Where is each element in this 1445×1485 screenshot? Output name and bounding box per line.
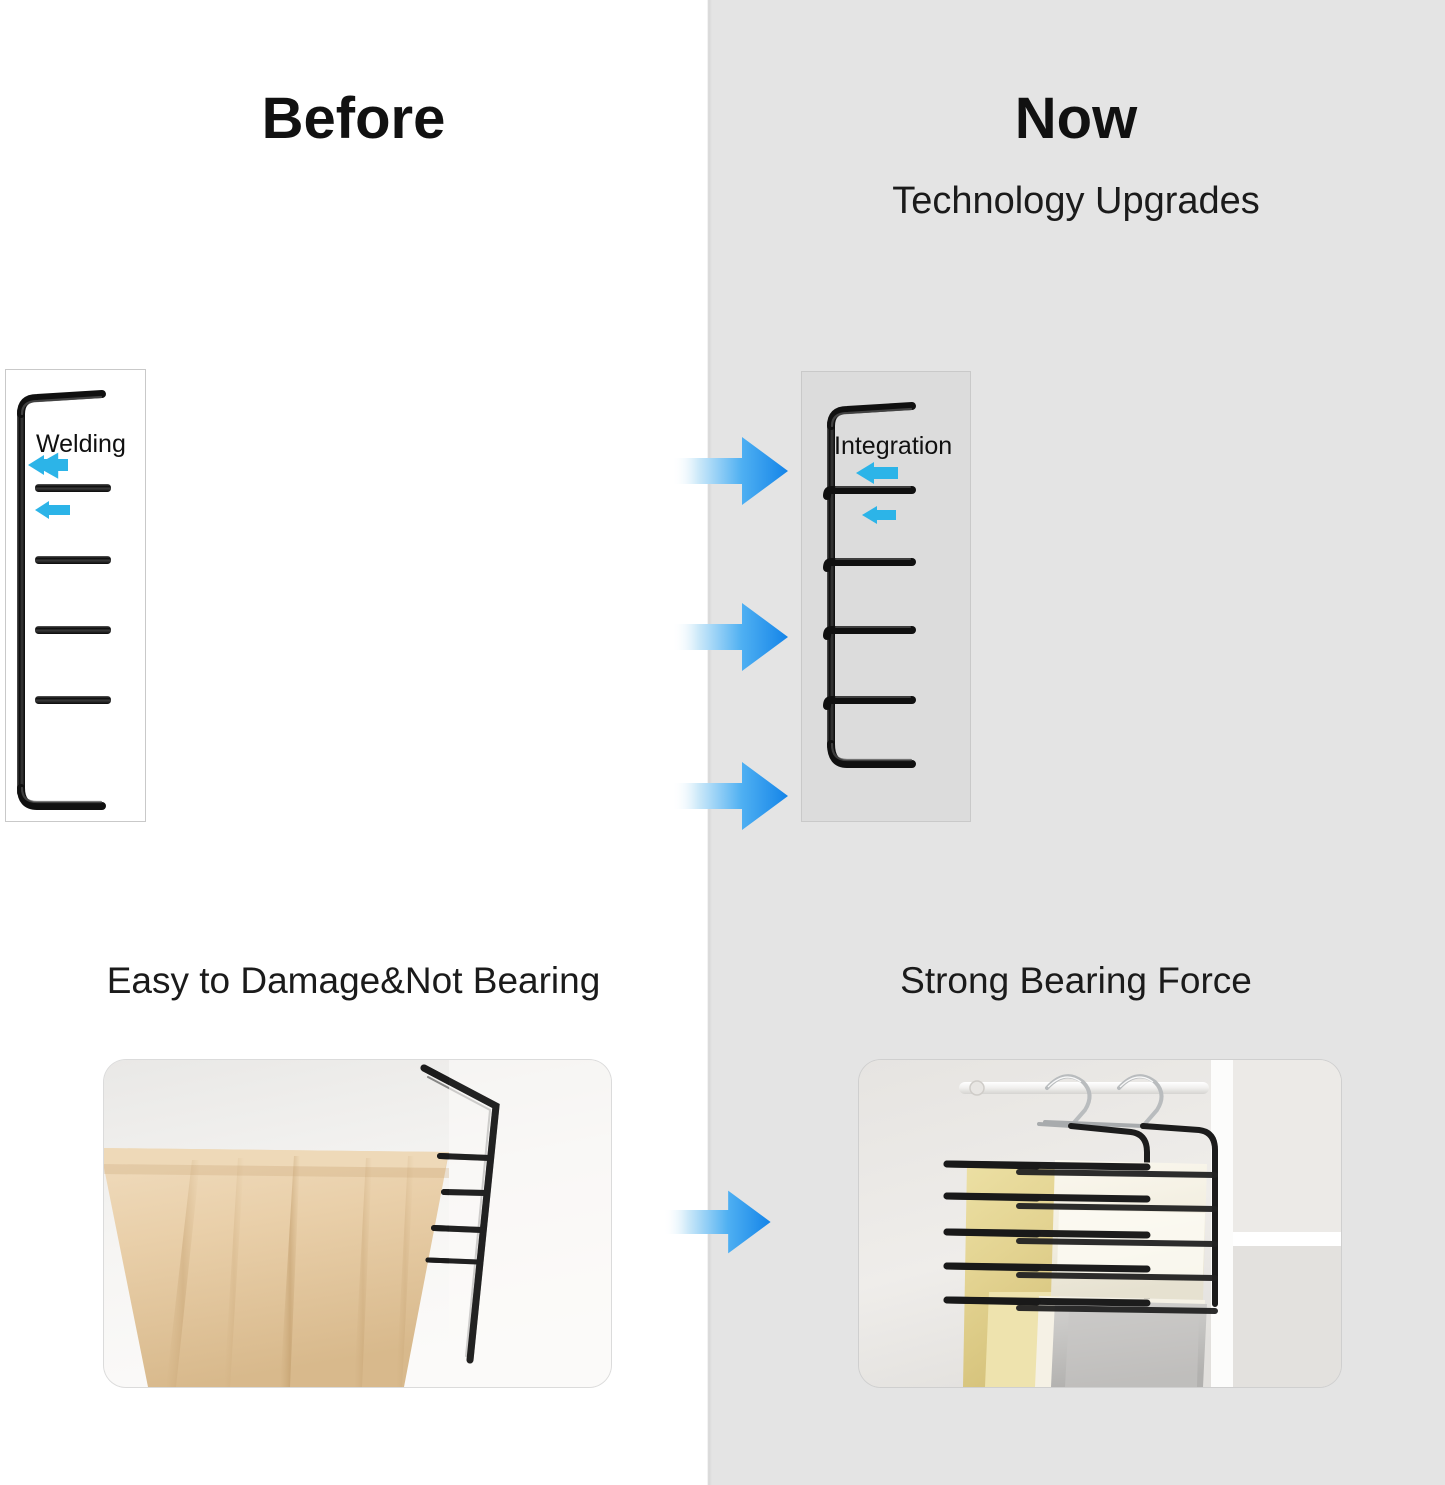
infographic-root: Before Now Technology Upgrades — [0, 0, 1445, 1485]
now-title: Now — [707, 85, 1445, 152]
transition-arrow-icon — [672, 432, 790, 510]
caption-before: Easy to Damage&Not Bearing — [0, 960, 707, 1002]
transition-arrow-icon — [672, 598, 790, 676]
caption-now: Strong Bearing Force — [707, 960, 1445, 1002]
loaded-hanger-photo — [859, 1060, 1341, 1387]
welding-label: Welding — [36, 430, 126, 459]
now-subtitle: Technology Upgrades — [707, 180, 1445, 223]
before-title: Before — [0, 85, 707, 152]
damaged-hanger-photo — [104, 1060, 611, 1387]
transition-arrow-icon — [663, 1186, 773, 1258]
transition-arrow-icon — [672, 757, 790, 835]
integration-label: Integration — [834, 432, 952, 461]
